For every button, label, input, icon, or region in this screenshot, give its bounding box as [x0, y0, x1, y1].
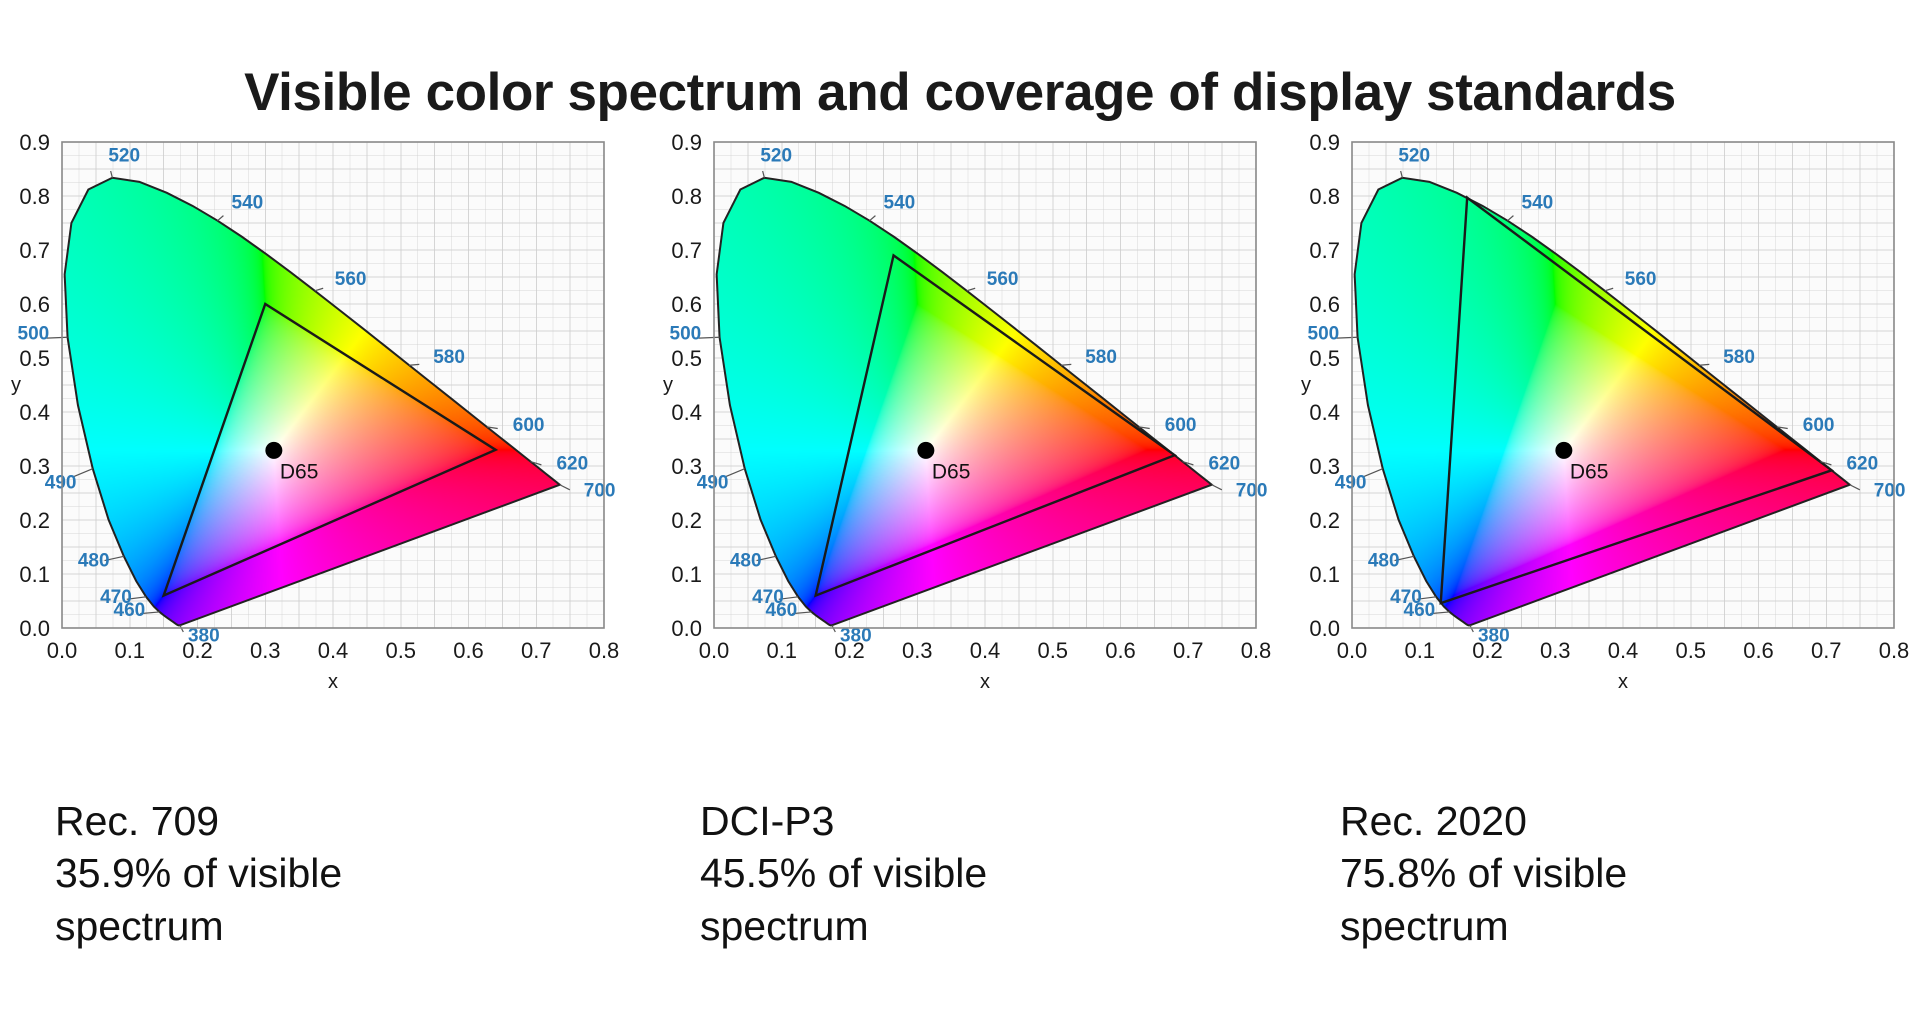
y-tick-label: 0.4	[671, 400, 702, 425]
wavelength-label-500: 500	[18, 323, 50, 344]
caption-line-spectrum: spectrum	[55, 900, 615, 952]
caption-dcip3: DCI-P3 45.5% of visible spectrum	[700, 795, 1260, 952]
y-tick-label: 0.0	[671, 616, 702, 641]
wavelength-label-520: 520	[1398, 146, 1430, 167]
y-tick-label: 0.2	[1309, 508, 1340, 533]
wavelength-label-620: 620	[1846, 454, 1878, 475]
caption-line-spectrum: spectrum	[700, 900, 1260, 952]
y-tick-label: 0.4	[1309, 400, 1340, 425]
y-tick-label: 0.1	[19, 562, 50, 587]
chart-panel-dcip3: D655205405605806006207005004904804704603…	[652, 120, 1292, 1020]
wavelength-label-540: 540	[884, 193, 916, 214]
x-tick-label: 0.4	[970, 638, 1001, 663]
x-tick-label: 0.0	[1337, 638, 1368, 663]
x-tick-label: 0.1	[766, 638, 797, 663]
wavelength-label-600: 600	[1803, 415, 1835, 436]
wavelength-label-540: 540	[1522, 193, 1554, 214]
wavelength-tick	[47, 337, 68, 338]
y-tick-label: 0.0	[19, 616, 50, 641]
y-axis-label: y	[11, 374, 21, 396]
x-tick-label: 0.4	[1608, 638, 1639, 663]
page-title: Visible color spectrum and coverage of d…	[0, 62, 1920, 123]
x-tick-label: 0.3	[1540, 638, 1571, 663]
x-tick-label: 0.8	[1879, 638, 1910, 663]
x-tick-label: 0.3	[250, 638, 281, 663]
x-tick-label: 0.6	[453, 638, 484, 663]
chart-panel-rec2020: D655205405605806006207005004904804704603…	[1290, 120, 1920, 1020]
caption-line-coverage: 35.9% of visible	[55, 847, 615, 899]
y-tick-label: 0.3	[19, 454, 50, 479]
x-tick-label: 0.7	[521, 638, 552, 663]
wavelength-label-600: 600	[1165, 415, 1197, 436]
caption-line-spectrum: spectrum	[1340, 900, 1900, 952]
x-tick-label: 0.1	[114, 638, 145, 663]
chromaticity-svg: D655205405605806006207005004904804704603…	[1290, 120, 1910, 690]
x-tick-label: 0.6	[1743, 638, 1774, 663]
chromaticity-diagram-rec709: D655205405605806006207005004904804704603…	[0, 120, 640, 690]
wavelength-label-580: 580	[1723, 347, 1755, 368]
x-tick-label: 0.7	[1173, 638, 1204, 663]
white-point-label: D65	[932, 460, 971, 483]
x-tick-label: 0.1	[1404, 638, 1435, 663]
wavelength-tick	[699, 337, 720, 338]
wavelength-label-700: 700	[1874, 481, 1906, 502]
wavelength-label-520: 520	[760, 146, 792, 167]
y-tick-label: 0.9	[1309, 130, 1340, 155]
caption-line-standard: Rec. 709	[55, 795, 615, 847]
caption-line-coverage: 45.5% of visible	[700, 847, 1260, 899]
wavelength-label-480: 480	[1368, 550, 1400, 571]
x-tick-label: 0.6	[1105, 638, 1136, 663]
wavelength-label-500: 500	[1308, 323, 1340, 344]
caption-line-standard: Rec. 2020	[1340, 795, 1900, 847]
y-tick-label: 0.5	[671, 346, 702, 371]
x-tick-label: 0.4	[318, 638, 349, 663]
chromaticity-svg: D655205405605806006207005004904804704603…	[0, 120, 620, 690]
wavelength-label-460: 460	[766, 600, 798, 621]
wavelength-label-500: 500	[670, 323, 702, 344]
y-tick-label: 0.2	[671, 508, 702, 533]
x-axis-label: x	[328, 671, 338, 690]
y-tick-label: 0.3	[671, 454, 702, 479]
y-tick-label: 0.8	[671, 184, 702, 209]
chromaticity-diagram-rec2020: D655205405605806006207005004904804704603…	[1290, 120, 1920, 690]
y-tick-label: 0.1	[1309, 562, 1340, 587]
white-point-marker	[265, 442, 282, 459]
x-axis-label: x	[1618, 671, 1628, 690]
wavelength-label-620: 620	[1208, 454, 1240, 475]
wavelength-tick	[1337, 337, 1358, 338]
x-tick-label: 0.8	[1241, 638, 1272, 663]
x-tick-label: 0.3	[902, 638, 933, 663]
wavelength-label-600: 600	[513, 415, 545, 436]
y-tick-label: 0.8	[19, 184, 50, 209]
caption-line-coverage: 75.8% of visible	[1340, 847, 1900, 899]
white-point-marker	[917, 442, 934, 459]
wavelength-label-620: 620	[556, 454, 588, 475]
x-tick-label: 0.2	[1472, 638, 1503, 663]
x-tick-label: 0.5	[1675, 638, 1706, 663]
x-tick-label: 0.2	[834, 638, 865, 663]
y-tick-label: 0.7	[19, 238, 50, 263]
y-tick-label: 0.0	[1309, 616, 1340, 641]
wavelength-label-460: 460	[1404, 600, 1436, 621]
x-tick-label: 0.5	[1037, 638, 1068, 663]
wavelength-label-480: 480	[78, 550, 110, 571]
wavelength-label-460: 460	[114, 600, 146, 621]
chart-panel-rec709: D655205405605806006207005004904804704603…	[0, 120, 640, 1020]
y-tick-label: 0.8	[1309, 184, 1340, 209]
y-tick-label: 0.3	[1309, 454, 1340, 479]
white-point-marker	[1555, 442, 1572, 459]
chromaticity-diagram-dcip3: D655205405605806006207005004904804704603…	[652, 120, 1292, 690]
x-tick-label: 0.7	[1811, 638, 1842, 663]
wavelength-tick	[1699, 364, 1709, 365]
x-axis-label: x	[980, 671, 990, 690]
wavelength-label-480: 480	[730, 550, 762, 571]
wavelength-label-580: 580	[1085, 347, 1117, 368]
y-tick-label: 0.2	[19, 508, 50, 533]
y-tick-label: 0.9	[19, 130, 50, 155]
wavelength-label-520: 520	[108, 146, 140, 167]
wavelength-label-560: 560	[987, 269, 1019, 290]
caption-rec2020: Rec. 2020 75.8% of visible spectrum	[1340, 795, 1900, 952]
wavelength-label-560: 560	[1625, 269, 1657, 290]
wavelength-label-540: 540	[232, 193, 264, 214]
wavelength-label-580: 580	[433, 347, 465, 368]
x-tick-label: 0.0	[47, 638, 78, 663]
y-tick-label: 0.5	[19, 346, 50, 371]
caption-line-standard: DCI-P3	[700, 795, 1260, 847]
white-point-label: D65	[1570, 460, 1609, 483]
x-tick-label: 0.2	[182, 638, 213, 663]
y-tick-label: 0.7	[671, 238, 702, 263]
y-tick-label: 0.6	[671, 292, 702, 317]
y-tick-label: 0.1	[671, 562, 702, 587]
wavelength-tick	[409, 364, 419, 365]
x-tick-label: 0.8	[589, 638, 620, 663]
y-axis-label: y	[663, 374, 673, 396]
y-tick-label: 0.6	[1309, 292, 1340, 317]
y-tick-label: 0.4	[19, 400, 50, 425]
y-tick-label: 0.7	[1309, 238, 1340, 263]
y-tick-label: 0.6	[19, 292, 50, 317]
wavelength-tick	[1061, 364, 1071, 365]
x-tick-label: 0.5	[385, 638, 416, 663]
x-tick-label: 0.0	[699, 638, 730, 663]
y-tick-label: 0.9	[671, 130, 702, 155]
white-point-label: D65	[280, 460, 319, 483]
wavelength-label-700: 700	[1236, 481, 1268, 502]
y-axis-label: y	[1301, 374, 1311, 396]
chromaticity-svg: D655205405605806006207005004904804704603…	[652, 120, 1272, 690]
caption-rec709: Rec. 709 35.9% of visible spectrum	[55, 795, 615, 952]
wavelength-label-700: 700	[584, 481, 616, 502]
wavelength-label-560: 560	[335, 269, 367, 290]
y-tick-label: 0.5	[1309, 346, 1340, 371]
